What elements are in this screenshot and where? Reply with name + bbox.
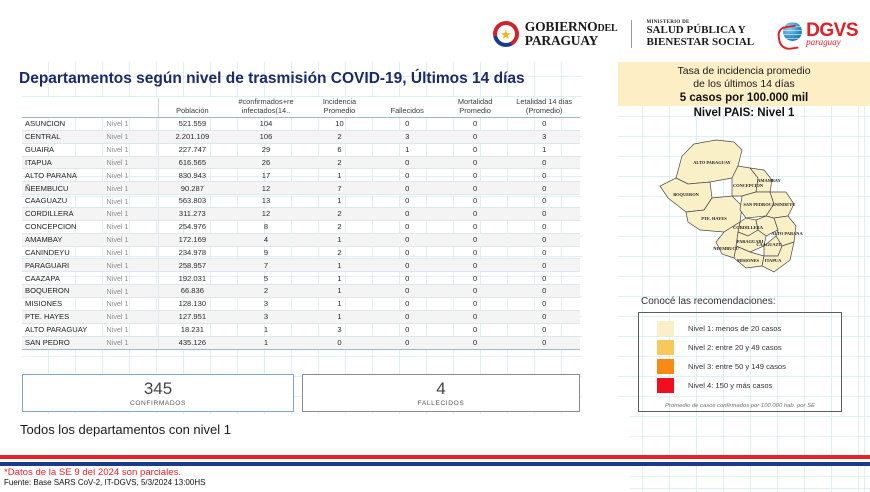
banner-line1b: de los últimos 14 días — [618, 78, 870, 91]
nivel-cell: Nivel 1 — [104, 169, 159, 182]
mortalidad-cell: 0 — [442, 323, 509, 336]
nivel-cell: Nivel 1 — [104, 259, 159, 272]
letalidad-cell: 0 — [508, 246, 580, 259]
incidencia-cell: 2 — [306, 130, 372, 143]
mortalidad-cell: 0 — [442, 336, 509, 349]
legend-label: Nivel 2: entre 20 y 49 casos — [688, 343, 782, 352]
legend-footnote: Promedio de casos confirmados por 100.00… — [643, 403, 837, 409]
gob-line2: PARAGUAY — [525, 34, 618, 48]
incidencia-cell: 1 — [306, 169, 372, 182]
mortalidad-cell: 0 — [442, 272, 509, 285]
letalidad-cell: 0 — [508, 272, 580, 285]
department-cell: GUAIRA — [22, 143, 104, 156]
mortalidad-cell: 0 — [442, 130, 509, 143]
table-row[interactable]: PTE. HAYESNivel 1127.95131000 — [22, 310, 580, 323]
fallecidos-cell: 0 — [373, 169, 442, 182]
legend-color-swatch — [657, 321, 674, 336]
nivel-cell: Nivel 1 — [104, 208, 159, 221]
fallecidos-cell: 0 — [373, 323, 442, 336]
svg-text:CANINDEYU: CANINDEYU — [769, 202, 797, 207]
svg-text:ALTO PARANA: ALTO PARANA — [771, 231, 803, 236]
col-header-mortalidad-l2: Promedio — [459, 106, 491, 115]
confirmados-cell: 17 — [226, 169, 307, 182]
fallecidos-cell: 0 — [373, 156, 442, 169]
svg-text:CAAGUAZU: CAAGUAZU — [756, 242, 782, 247]
table-row[interactable]: CONCEPCIONNivel 1254.97682000 — [22, 220, 580, 233]
letalidad-cell: 0 — [508, 323, 580, 336]
letalidad-cell: 0 — [508, 310, 580, 323]
gutter-mask — [582, 62, 618, 422]
nivel-cell: Nivel 1 — [104, 195, 159, 208]
ministerio-line2: BIENESTAR SOCIAL — [646, 37, 754, 49]
incidencia-cell: 10 — [306, 118, 372, 131]
logo-group: ★ GOBIERNODEL PARAGUAY MINISTERIO DE SAL… — [493, 20, 858, 48]
confirmados-cell: 12 — [226, 182, 307, 195]
card-confirmados-label: CONFIRMADOS — [130, 400, 186, 407]
table-row[interactable]: CANINDEYUNivel 1234.97892000 — [22, 246, 580, 259]
letalidad-cell: 0 — [508, 298, 580, 311]
gobierno-paraguay-logo: ★ GOBIERNODEL PARAGUAY — [493, 20, 618, 48]
legend-color-swatch — [657, 378, 674, 393]
fallecidos-cell: 0 — [373, 182, 442, 195]
card-fallecidos: 4 FALLECIDOS — [302, 374, 580, 412]
confirmados-cell: 7 — [226, 259, 307, 272]
incidencia-cell: 3 — [306, 323, 372, 336]
col-header-confirmados: #confirmados+re infectados(14.. — [226, 98, 307, 118]
table-row[interactable]: SAN PEDRONivel 1435.12610000 — [22, 336, 580, 349]
card-fallecidos-label: FALLECIDOS — [418, 400, 465, 407]
department-cell: ALTO PARAGUAY — [22, 323, 104, 336]
fallecidos-cell: 3 — [373, 130, 442, 143]
incidencia-cell: 1 — [306, 310, 372, 323]
legend-color-swatch — [657, 340, 674, 355]
poblacion-cell: 830.943 — [159, 169, 226, 182]
fallecidos-cell: 0 — [373, 259, 442, 272]
nivel-cell: Nivel 1 — [104, 246, 159, 259]
table-row[interactable]: PARAGUARINivel 1258.95771000 — [22, 259, 580, 272]
incidencia-cell: 1 — [306, 259, 372, 272]
confirmados-cell: 3 — [226, 298, 307, 311]
table-header-row: Población #confirmados+re infectados(14.… — [22, 98, 580, 118]
card-confirmados-value: 345 — [144, 380, 172, 397]
incidencia-cell: 1 — [306, 298, 372, 311]
poblacion-cell: 66.836 — [159, 285, 226, 298]
col-header-nivel — [104, 98, 159, 118]
letalidad-cell: 0 — [508, 220, 580, 233]
table-row[interactable]: GUAIRANivel 1227.747296101 — [22, 143, 580, 156]
letalidad-cell: 0 — [508, 156, 580, 169]
incidencia-cell: 0 — [306, 336, 372, 349]
table-row[interactable]: CAAGUAZUNivel 1563.803131000 — [22, 195, 580, 208]
poblacion-cell: 127.951 — [159, 310, 226, 323]
fallecidos-cell: 0 — [373, 272, 442, 285]
letalidad-cell: 0 — [508, 169, 580, 182]
poblacion-cell: 128.130 — [159, 298, 226, 311]
letalidad-cell: 0 — [508, 195, 580, 208]
incidence-banner: Tasa de incidencia promedio de los últim… — [618, 62, 870, 106]
table-row[interactable]: CENTRALNivel 12.201.1091062303 — [22, 130, 580, 143]
incidencia-cell: 2 — [306, 156, 372, 169]
dgvs-logo: DGVS paraguay — [778, 21, 858, 47]
mortalidad-cell: 0 — [442, 156, 509, 169]
fallecidos-cell: 0 — [373, 285, 442, 298]
department-cell: MISIONES — [22, 298, 104, 311]
nivel-cell: Nivel 1 — [104, 130, 159, 143]
poblacion-cell: 90.287 — [159, 182, 226, 195]
department-cell: PARAGUARI — [22, 259, 104, 272]
page-title: Departamentos según nivel de trasmisión … — [19, 70, 525, 88]
footer-bar-blue — [0, 462, 870, 466]
letalidad-cell: 0 — [508, 233, 580, 246]
svg-text:ALTO PARAGUAY: ALTO PARAGUAY — [693, 160, 731, 165]
letalidad-cell: 0 — [508, 208, 580, 221]
mortalidad-cell: 0 — [442, 310, 509, 323]
svg-text:CORDILLERA: CORDILLERA — [733, 225, 764, 230]
legend-label: Nivel 4: 150 y más casos — [688, 381, 772, 390]
confirmados-cell: 1 — [226, 323, 307, 336]
mortalidad-cell: 0 — [442, 182, 509, 195]
legend-item: Nivel 3: entre 50 y 149 casos — [657, 358, 841, 374]
nivel-cell: Nivel 1 — [104, 118, 159, 131]
department-cell: CORDILLERA — [22, 208, 104, 221]
card-confirmados: 345 CONFIRMADOS — [22, 374, 294, 412]
incidencia-cell: 6 — [306, 143, 372, 156]
table-row[interactable]: CAAZAPANivel 1192.03151000 — [22, 272, 580, 285]
legend-label: Nivel 1: menos de 20 casos — [688, 324, 781, 333]
recommendations-label[interactable]: Conocé las recomendaciones: — [641, 296, 776, 307]
legend-item: Nivel 1: menos de 20 casos — [657, 320, 841, 336]
table-row[interactable]: ÑEEMBUCUNivel 190.287127000 — [22, 182, 580, 195]
col-header-confirmados-l2: infectados(14.. — [242, 106, 290, 115]
confirmados-cell: 3 — [226, 310, 307, 323]
confirmados-cell: 106 — [226, 130, 307, 143]
legend-item: Nivel 2: entre 20 y 49 casos — [657, 339, 841, 355]
department-cell: ASUNCION — [22, 118, 104, 131]
paraguay-emblem-icon: ★ — [493, 21, 519, 47]
incidencia-cell: 1 — [306, 233, 372, 246]
gob-line1: GOBIERNO — [525, 19, 598, 34]
confirmados-cell: 8 — [226, 220, 307, 233]
table-row[interactable]: BOQUERONNivel 166.83621000 — [22, 285, 580, 298]
letalidad-cell: 3 — [508, 130, 580, 143]
col-header-fallecidos: Fallecidos — [373, 98, 442, 118]
summary-cards: 345 CONFIRMADOS 4 FALLECIDOS — [22, 374, 580, 412]
department-cell: ALTO PARANA — [22, 169, 104, 182]
poblacion-cell: 2.201.109 — [159, 130, 226, 143]
poblacion-cell: 192.031 — [159, 272, 226, 285]
poblacion-cell: 616.565 — [159, 156, 226, 169]
department-cell: ITAPUA — [22, 156, 104, 169]
svg-text:BOQUERON: BOQUERON — [673, 192, 699, 197]
mortalidad-cell: 0 — [442, 195, 509, 208]
confirmados-cell: 26 — [226, 156, 307, 169]
banner-line3: Nivel PAIS: Nivel 1 — [618, 106, 870, 120]
confirmados-cell: 9 — [226, 246, 307, 259]
col-header-incidencia-l2: Promedio — [324, 106, 356, 115]
fallecidos-cell: 1 — [373, 143, 442, 156]
legend-box: Nivel 1: menos de 20 casosNivel 2: entre… — [638, 312, 842, 412]
nivel-cell: Nivel 1 — [104, 220, 159, 233]
poblacion-cell: 254.976 — [159, 220, 226, 233]
globe-icon — [778, 21, 804, 47]
nivel-cell: Nivel 1 — [104, 298, 159, 311]
letalidad-cell: 0 — [508, 285, 580, 298]
poblacion-cell: 311.273 — [159, 208, 226, 221]
confirmados-cell: 1 — [226, 336, 307, 349]
mortalidad-cell: 0 — [442, 285, 509, 298]
incidencia-cell: 1 — [306, 285, 372, 298]
department-cell: BOQUERON — [22, 285, 104, 298]
poblacion-cell: 521.559 — [159, 118, 226, 131]
nivel-cell: Nivel 1 — [104, 323, 159, 336]
svg-text:AMAMBAY: AMAMBAY — [757, 178, 781, 183]
incidencia-cell: 7 — [306, 182, 372, 195]
legend-item: Nivel 4: 150 y más casos — [657, 377, 841, 393]
svg-text:ITAPUA: ITAPUA — [765, 258, 782, 263]
fallecidos-cell: 0 — [373, 118, 442, 131]
mortalidad-cell: 0 — [442, 233, 509, 246]
bottom-note: Todos los departamentos con nivel 1 — [20, 422, 231, 437]
mortalidad-cell: 0 — [442, 246, 509, 259]
footer-note-partial: *Datos de la SE 9 del 2024 son parciales… — [4, 467, 181, 478]
department-cell: SAN PEDRO — [22, 336, 104, 349]
svg-text:PTE. HAYES: PTE. HAYES — [701, 216, 727, 221]
col-header-mortalidad: Mortalidad Promedio — [442, 98, 509, 118]
department-cell: CANINDEYU — [22, 246, 104, 259]
department-cell: AMAMBAY — [22, 233, 104, 246]
header: ★ GOBIERNODEL PARAGUAY MINISTERIO DE SAL… — [0, 0, 870, 62]
nivel-cell: Nivel 1 — [104, 233, 159, 246]
department-cell: CAAZAPA — [22, 272, 104, 285]
banner-line2: 5 casos por 100.000 mil — [618, 91, 870, 105]
table-row[interactable]: ASUNCIONNivel 1521.55910410000 — [22, 118, 580, 131]
fallecidos-cell: 0 — [373, 195, 442, 208]
legend-color-swatch — [657, 359, 674, 374]
fallecidos-cell: 0 — [373, 233, 442, 246]
department-cell: PTE. HAYES — [22, 310, 104, 323]
card-fallecidos-value: 4 — [436, 380, 445, 397]
incidencia-cell: 2 — [306, 220, 372, 233]
mortalidad-cell: 0 — [442, 220, 509, 233]
poblacion-cell: 234.978 — [159, 246, 226, 259]
table-row[interactable]: ALTO PARANANivel 1830.943171000 — [22, 169, 580, 182]
fallecidos-cell: 0 — [373, 310, 442, 323]
nivel-cell: Nivel 1 — [104, 182, 159, 195]
ministerio-salud-logo: MINISTERIO DE SALUD PÚBLICA Y BIENESTAR … — [646, 20, 754, 48]
confirmados-cell: 4 — [226, 233, 307, 246]
poblacion-cell: 435.126 — [159, 336, 226, 349]
poblacion-cell: 563.803 — [159, 195, 226, 208]
incidencia-cell: 2 — [306, 246, 372, 259]
department-cell: CONCEPCION — [22, 220, 104, 233]
poblacion-cell: 18.231 — [159, 323, 226, 336]
table-row[interactable]: MISIONESNivel 1128.13031000 — [22, 298, 580, 311]
department-cell: ÑEEMBUCU — [22, 182, 104, 195]
poblacion-cell: 258.957 — [159, 259, 226, 272]
nivel-cell: Nivel 1 — [104, 336, 159, 349]
col-header-incidencia: Incidencia Promedio — [306, 98, 372, 118]
svg-text:ÑEEMBUCU: ÑEEMBUCU — [713, 246, 739, 251]
confirmados-cell: 13 — [226, 195, 307, 208]
department-cell: CAAGUAZU — [22, 195, 104, 208]
confirmados-cell: 29 — [226, 143, 307, 156]
mortalidad-cell: 0 — [442, 143, 509, 156]
letalidad-cell: 0 — [508, 336, 580, 349]
confirmados-cell: 2 — [226, 285, 307, 298]
col-header-department — [22, 98, 104, 118]
incidencia-cell: 1 — [306, 195, 372, 208]
svg-text:SAN PEDRO: SAN PEDRO — [743, 202, 769, 207]
letalidad-cell: 0 — [508, 259, 580, 272]
paraguay-map-svg: ALTO PARAGUAY BOQUERON PTE. HAYES CONCEP… — [638, 126, 842, 286]
table-row[interactable]: ALTO PARAGUAYNivel 118.23113000 — [22, 323, 580, 336]
gob-line1-small: DEL — [597, 23, 617, 34]
fallecidos-cell: 0 — [373, 208, 442, 221]
col-header-letalidad: Letalidad 14 dias (Promedio) — [508, 98, 580, 118]
letalidad-cell: 1 — [508, 143, 580, 156]
incidencia-cell: 1 — [306, 272, 372, 285]
confirmados-cell: 12 — [226, 208, 307, 221]
confirmados-cell: 104 — [226, 118, 307, 131]
mortalidad-cell: 0 — [442, 208, 509, 221]
left-gutter-mask — [0, 62, 22, 414]
nivel-cell: Nivel 1 — [104, 156, 159, 169]
fallecidos-cell: 0 — [373, 246, 442, 259]
col-header-letalidad-l2: (Promedio) — [526, 106, 563, 115]
nivel-cell: Nivel 1 — [104, 310, 159, 323]
fallecidos-cell: 0 — [373, 220, 442, 233]
departments-table-container: Población #confirmados+re infectados(14.… — [22, 98, 580, 350]
fallecidos-cell: 0 — [373, 298, 442, 311]
departments-table: Población #confirmados+re infectados(14.… — [22, 98, 580, 350]
table-row[interactable]: AMAMBAYNivel 1172.16941000 — [22, 233, 580, 246]
confirmados-cell: 5 — [226, 272, 307, 285]
nivel-cell: Nivel 1 — [104, 272, 159, 285]
mortalidad-cell: 0 — [442, 169, 509, 182]
banner-line1: Tasa de incidencia promedio — [618, 65, 870, 78]
poblacion-cell: 227.747 — [159, 143, 226, 156]
legend-label: Nivel 3: entre 50 y 149 casos — [688, 362, 786, 371]
svg-text:MISIONES: MISIONES — [737, 258, 760, 263]
paraguay-map[interactable]: ALTO PARAGUAY BOQUERON PTE. HAYES CONCEP… — [638, 126, 842, 286]
incidencia-cell: 2 — [306, 208, 372, 221]
table-body: ASUNCIONNivel 1521.55910410000CENTRALNiv… — [22, 118, 580, 349]
mortalidad-cell: 0 — [442, 298, 509, 311]
fallecidos-cell: 0 — [373, 336, 442, 349]
poblacion-cell: 172.169 — [159, 233, 226, 246]
nivel-cell: Nivel 1 — [104, 143, 159, 156]
svg-text:CONCEPCION: CONCEPCION — [733, 183, 764, 188]
footer-source: Fuente: Base SARS CoV-2, IT-DGVS, 5/3/20… — [4, 478, 205, 487]
table-row[interactable]: ITAPUANivel 1616.565262000 — [22, 156, 580, 169]
table-row[interactable]: CORDILLERANivel 1311.273122000 — [22, 208, 580, 221]
letalidad-cell: 0 — [508, 118, 580, 131]
nivel-cell: Nivel 1 — [104, 285, 159, 298]
department-cell: CENTRAL — [22, 130, 104, 143]
letalidad-cell: 0 — [508, 182, 580, 195]
logo-divider — [631, 20, 632, 48]
mortalidad-cell: 0 — [442, 118, 509, 131]
col-header-poblacion: Población — [159, 98, 226, 118]
mortalidad-cell: 0 — [442, 259, 509, 272]
